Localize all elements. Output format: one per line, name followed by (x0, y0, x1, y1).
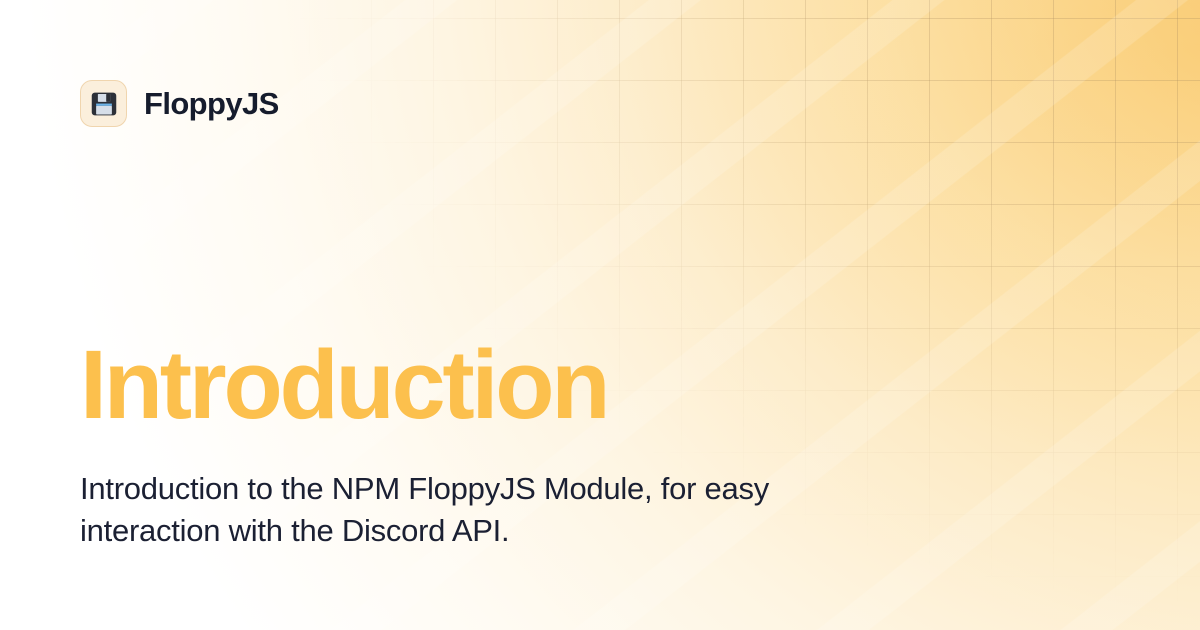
floppy-disk-icon (90, 90, 118, 118)
card-content: FloppyJS Introduction Introduction to th… (0, 0, 1200, 630)
open-graph-card: FloppyJS Introduction Introduction to th… (0, 0, 1200, 630)
brand-badge (80, 80, 127, 127)
brand-lockup: FloppyJS (80, 80, 279, 127)
brand-name: FloppyJS (144, 88, 279, 119)
page-description: Introduction to the NPM FloppyJS Module,… (80, 468, 860, 552)
page-title: Introduction (80, 336, 607, 433)
